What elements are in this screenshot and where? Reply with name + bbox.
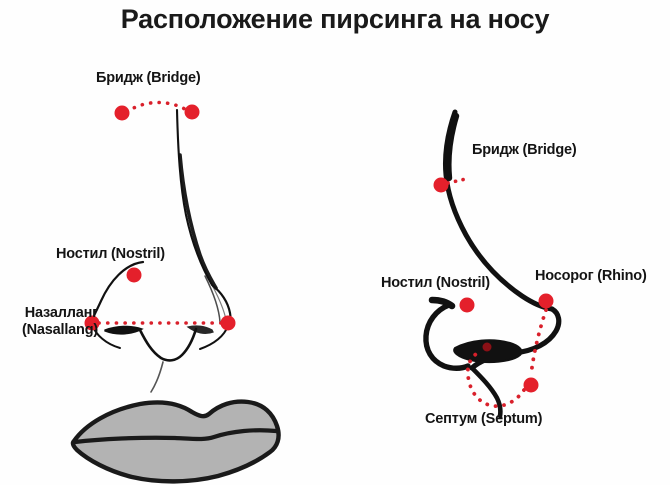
- label-nasallang: Назалланг (Nasallang): [0, 305, 98, 339]
- front-left-nostril-opening: [105, 326, 142, 333]
- front-nose-bridge-shade: [180, 155, 216, 288]
- label-septum: Септум (Septum): [425, 411, 542, 428]
- piercing-dot-rhino[interactable]: [539, 294, 554, 309]
- front-bridge-dotted-arc: [127, 103, 188, 113]
- label-rhino: Носорог (Rhino): [535, 268, 647, 285]
- front-right-nostril-opening: [188, 326, 213, 333]
- label-bridge-front: Бридж (Bridge): [96, 70, 201, 87]
- piercing-dot-nostril-front[interactable]: [127, 268, 142, 283]
- label-nostril-front: Ностил (Nostril): [56, 246, 165, 263]
- piercing-dot-septum-inner[interactable]: [483, 343, 492, 352]
- label-nasallang-line1: Назалланг: [25, 305, 98, 321]
- piercing-dot-nasallang-right[interactable]: [221, 316, 236, 331]
- front-nose-philtrum-line: [151, 362, 163, 392]
- piercing-dot-bridge-right[interactable]: [185, 105, 200, 120]
- lips-illustration: [73, 402, 279, 482]
- profile-nose-ala-top: [432, 300, 452, 306]
- piercing-dot-bridge-left[interactable]: [115, 106, 130, 121]
- piercing-dot-septum[interactable]: [524, 378, 539, 393]
- label-nasallang-line2: (Nasallang): [22, 322, 98, 338]
- profile-nose-ala-outer: [426, 305, 468, 368]
- profile-nose-columella: [472, 368, 500, 416]
- piercing-dot-bridge-profile[interactable]: [434, 178, 449, 193]
- label-nostril-profile: Ностил (Nostril): [381, 275, 490, 292]
- lips-outer-shape: [73, 402, 279, 482]
- front-nose-columella: [140, 329, 196, 360]
- front-nose-bridge-ridge: [177, 110, 212, 285]
- label-bridge-profile: Бридж (Bridge): [472, 142, 577, 159]
- piercing-dot-nostril-profile[interactable]: [460, 298, 475, 313]
